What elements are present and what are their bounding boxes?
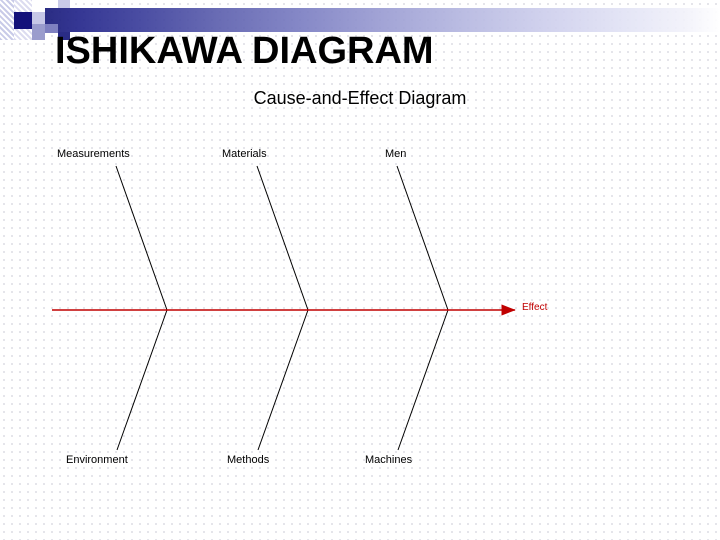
cause-label-measurements: Measurements (57, 148, 130, 160)
cause-label-materials: Materials (222, 148, 267, 160)
diagram-labels-layer: MeasurementsMaterialsMenEnvironmentMetho… (0, 0, 720, 540)
cause-label-men: Men (385, 148, 406, 160)
cause-label-methods: Methods (227, 454, 269, 466)
slide-canvas: ISHIKAWA DIAGRAM Cause-and-Effect Diagra… (0, 0, 720, 540)
effect-label: Effect (522, 302, 547, 313)
cause-label-environment: Environment (66, 454, 128, 466)
cause-label-machines: Machines (365, 454, 412, 466)
